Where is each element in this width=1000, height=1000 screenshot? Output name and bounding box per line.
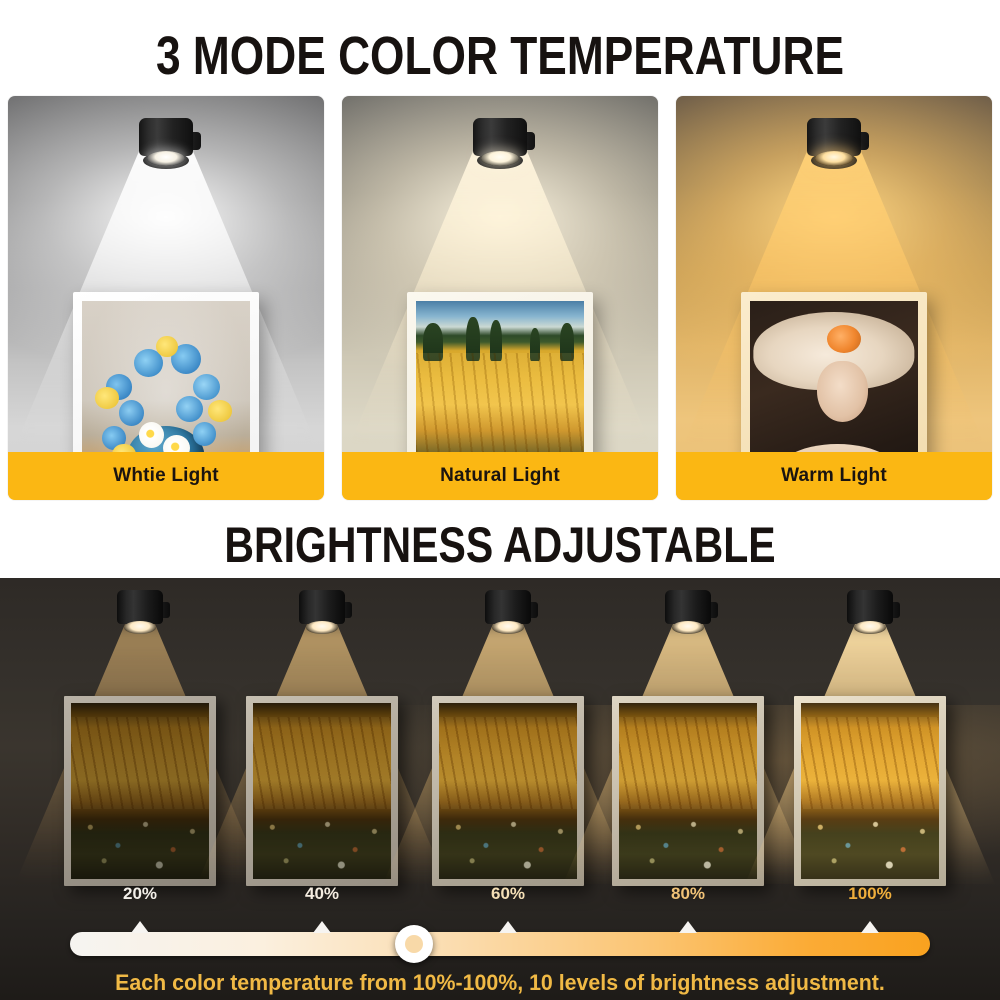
slider-tick-100 (861, 921, 879, 933)
color-temperature-title: 3 MODE COLOR TEMPERATURE (90, 26, 910, 86)
artwork-field-100 (801, 703, 939, 879)
slider-tick-20 (131, 921, 149, 933)
mode-label-text: Warm Light (781, 465, 887, 487)
brightness-title: BRIGHTNESS ADJUSTABLE (90, 517, 910, 573)
picture-frame-80 (612, 696, 764, 886)
color-temperature-panels: Whtie Light (8, 96, 992, 500)
artwork-field-40 (253, 703, 391, 879)
mode-label-text: Natural Light (440, 465, 560, 487)
slider-tick-60 (499, 921, 517, 933)
artwork-field-80 (619, 703, 757, 879)
artwork-field-60 (439, 703, 577, 879)
brightness-label-100: 100% (848, 884, 891, 904)
slider-track[interactable] (70, 932, 930, 956)
brightness-section: 20% 40% (0, 578, 1000, 1000)
picture-frame-40 (246, 696, 398, 886)
slider-tick-40 (313, 921, 331, 933)
brightness-caption: Each color temperature from 10%-100%, 10… (15, 970, 985, 996)
picture-frame-60 (432, 696, 584, 886)
brightness-label-40: 40% (305, 884, 339, 904)
wall-spotlight-icon (117, 590, 163, 634)
color-mode-panel-natural[interactable]: Natural Light (342, 96, 658, 500)
wall-spotlight-icon (139, 118, 193, 166)
brightness-slider[interactable] (0, 918, 1000, 964)
color-mode-panel-warm[interactable]: Warm Light (676, 96, 992, 500)
wall-spotlight-icon (485, 590, 531, 634)
mode-label-warm: Warm Light (676, 452, 992, 500)
mode-label-white: Whtie Light (8, 452, 324, 500)
picture-frame-100 (794, 696, 946, 886)
color-mode-panel-white[interactable]: Whtie Light (8, 96, 324, 500)
wall-spotlight-icon (473, 118, 527, 166)
wall-spotlight-icon (299, 590, 345, 634)
picture-frame-20 (64, 696, 216, 886)
wall-spotlight-icon (807, 118, 861, 166)
wall-spotlight-icon (847, 590, 893, 634)
wall-spotlight-icon (665, 590, 711, 634)
mode-label-text: Whtie Light (113, 465, 219, 487)
brightness-cell-100[interactable]: 100% (770, 578, 970, 908)
brightness-label-60: 60% (491, 884, 525, 904)
mode-label-natural: Natural Light (342, 452, 658, 500)
slider-tick-80 (679, 921, 697, 933)
brightness-cell-40[interactable]: 40% (222, 578, 422, 908)
brightness-label-20: 20% (123, 884, 157, 904)
artwork-field-20 (71, 703, 209, 879)
slider-handle[interactable] (395, 925, 433, 963)
brightness-label-80: 80% (671, 884, 705, 904)
product-infographic: 3 MODE COLOR TEMPERATURE (0, 0, 1000, 1000)
